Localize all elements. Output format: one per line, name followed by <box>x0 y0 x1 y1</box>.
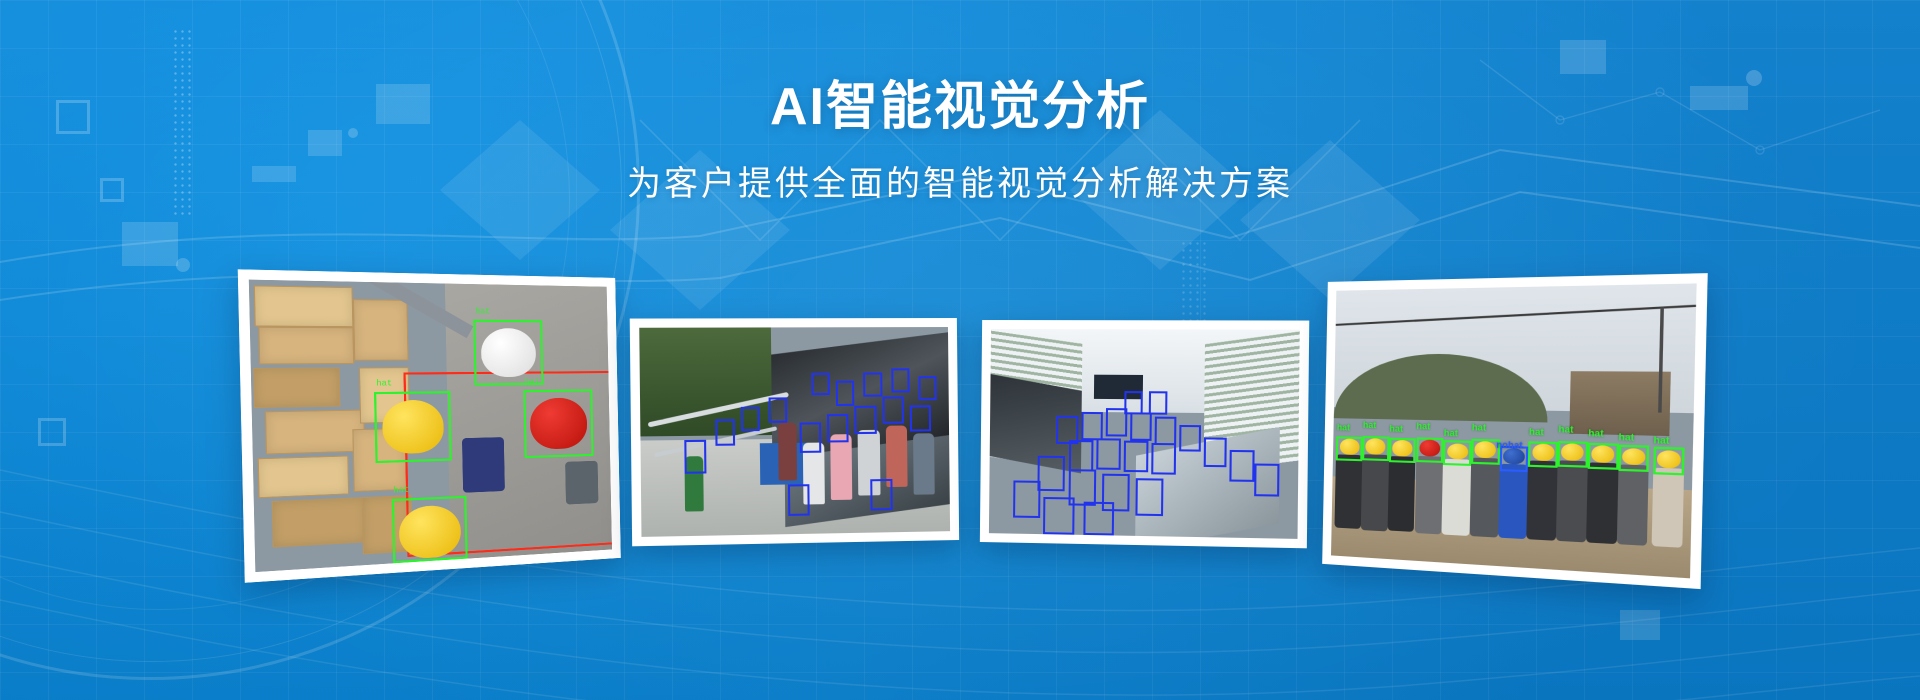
worker-body <box>1527 461 1558 541</box>
detection-label-hat: hat <box>1363 421 1377 430</box>
person-body <box>885 425 907 487</box>
detection-box-hat <box>1653 447 1685 475</box>
person-body <box>913 433 935 495</box>
detection-label-hat: hat <box>1619 432 1635 442</box>
photo-outdoor-hat: hat hat hat hat hat hat nohat hat hat ha… <box>1331 283 1697 578</box>
gallery-card-bridge-crowd[interactable] <box>630 318 959 546</box>
worker-body <box>1361 454 1389 532</box>
worker-body <box>1469 458 1499 538</box>
detection-box-hat <box>1558 441 1588 468</box>
background-building <box>1570 371 1671 436</box>
detection-label-hat: hat <box>1472 423 1486 433</box>
detection-label: hat <box>475 308 490 317</box>
detection-box-person <box>871 479 893 510</box>
detection-label-hat: hat <box>1588 429 1604 439</box>
photo-bridge-crowd <box>639 327 950 537</box>
detection-label: hat <box>525 379 540 387</box>
detection-box-person <box>1013 480 1041 517</box>
hero-banner: AI智能视觉分析 为客户提供全面的智能视觉分析解决方案 <box>0 0 1920 700</box>
photo-gallery: hat hat hat hat <box>0 300 1920 600</box>
detection-box-person <box>1204 437 1226 466</box>
decorative-block-5 <box>1560 40 1606 74</box>
hero-text-block: AI智能视觉分析 为客户提供全面的智能视觉分析解决方案 <box>0 78 1920 205</box>
detection-box-person <box>891 368 909 393</box>
worker-body <box>1651 467 1684 548</box>
detection-box-hat <box>1618 445 1650 473</box>
photo-station-crowd <box>989 329 1300 539</box>
detection-box-hat-1: hat <box>473 320 543 386</box>
detection-box-person <box>863 372 882 397</box>
detection-box-hat <box>1587 443 1618 470</box>
detection-label-hat: hat <box>1416 422 1430 432</box>
worker-body <box>1335 455 1363 529</box>
detection-label-hat: hat <box>1337 423 1350 432</box>
detection-box-person <box>827 414 849 443</box>
gallery-card-warehouse-helmet[interactable]: hat hat hat hat <box>238 269 621 583</box>
detection-box-person <box>685 440 707 474</box>
detection-label: hat <box>393 486 409 495</box>
detection-label-hat: hat <box>1389 424 1403 434</box>
detection-box-person <box>1135 478 1163 516</box>
worker-body <box>1556 460 1588 542</box>
detection-box-person <box>1149 391 1168 414</box>
worker-body <box>1586 463 1618 545</box>
worker-row <box>1331 434 1693 579</box>
worker-body <box>1616 465 1649 546</box>
detection-box-person <box>1130 412 1152 441</box>
gallery-card-station-crowd[interactable] <box>980 320 1309 548</box>
detection-label: hat <box>376 380 392 389</box>
page-subtitle: 为客户提供全面的智能视觉分析解决方案 <box>0 164 1920 205</box>
person-body <box>778 422 797 480</box>
detection-box-hat-2: hat <box>374 391 452 463</box>
detection-box-person <box>1038 456 1066 491</box>
detection-box-person <box>1083 502 1114 535</box>
detection-box-person <box>1155 416 1177 445</box>
worker-body <box>1414 456 1443 535</box>
detection-box-person <box>836 381 855 406</box>
detection-box-person <box>882 397 904 424</box>
gallery-card-outdoor-hat[interactable]: hat hat hat hat hat hat nohat hat hat ha… <box>1322 273 1708 589</box>
detection-box-person <box>1124 441 1149 472</box>
detection-box-person <box>1096 438 1121 469</box>
detection-box-hat <box>1528 441 1558 468</box>
worker-torso-2 <box>565 461 599 505</box>
detection-box-person <box>740 406 759 431</box>
detection-box-hat <box>1389 438 1416 464</box>
worker-body <box>1498 464 1528 540</box>
detection-box-person <box>1151 443 1176 474</box>
detection-box-person <box>1081 411 1103 440</box>
person-body <box>830 434 852 500</box>
detection-box-hat <box>1416 437 1444 463</box>
detection-label-hat: hat <box>1529 427 1544 437</box>
worker-torso <box>462 437 505 493</box>
detection-box-person <box>800 422 822 453</box>
detection-label-hat: hat <box>1444 428 1458 438</box>
decorative-block-7 <box>1620 610 1660 640</box>
detection-box-person <box>855 405 877 434</box>
detection-box-person <box>716 419 735 446</box>
detection-box-person <box>788 484 810 515</box>
worker-body <box>1387 456 1415 532</box>
detection-box-person <box>768 398 787 423</box>
detection-box-person <box>811 373 830 396</box>
detection-box-hat <box>1336 436 1363 461</box>
detection-box-hat-3: hat <box>523 389 594 457</box>
page-title: AI智能视觉分析 <box>0 78 1920 138</box>
detection-box-hat-4: hat <box>391 495 468 563</box>
detection-box-person <box>1229 450 1254 482</box>
detection-box-person <box>1254 463 1280 497</box>
detection-box-person <box>918 376 936 401</box>
detection-box-hat <box>1362 436 1389 461</box>
detection-box-person <box>909 405 930 432</box>
detection-label-nohat: nohat <box>1496 441 1523 451</box>
detection-box-person <box>1068 440 1093 471</box>
worker-body <box>1442 459 1471 536</box>
detection-box-hat <box>1443 440 1471 466</box>
photo-warehouse-helmet: hat hat hat hat <box>249 280 612 572</box>
decorative-block-1 <box>122 222 178 266</box>
detection-box-person <box>1124 391 1143 414</box>
detection-label-hat: hat <box>1558 425 1573 435</box>
detection-label-hat: hat <box>1653 436 1669 446</box>
decorative-dot-2 <box>176 258 190 272</box>
detection-box-person <box>1179 425 1201 452</box>
detection-box-person <box>1043 497 1074 534</box>
